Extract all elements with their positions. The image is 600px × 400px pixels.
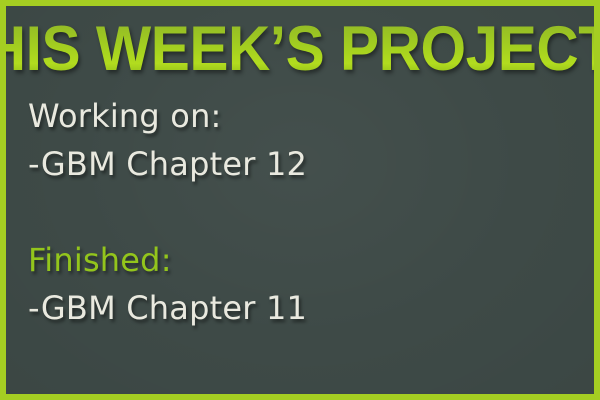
working-on-heading: Working on: [28, 92, 574, 140]
page-title: THIS WEEK’S PROJECTS [0, 18, 600, 81]
poster-body: Working on: -GBM Chapter 12 Finished: -G… [28, 92, 574, 332]
poster-header: THIS WEEK’S PROJECTS [6, 14, 594, 84]
finished-heading: Finished: [28, 236, 574, 284]
working-on-item: -GBM Chapter 12 [28, 140, 574, 188]
section-spacer [28, 188, 574, 236]
project-status-poster: THIS WEEK’S PROJECTS Working on: -GBM Ch… [0, 0, 600, 400]
finished-item: -GBM Chapter 11 [28, 284, 574, 332]
